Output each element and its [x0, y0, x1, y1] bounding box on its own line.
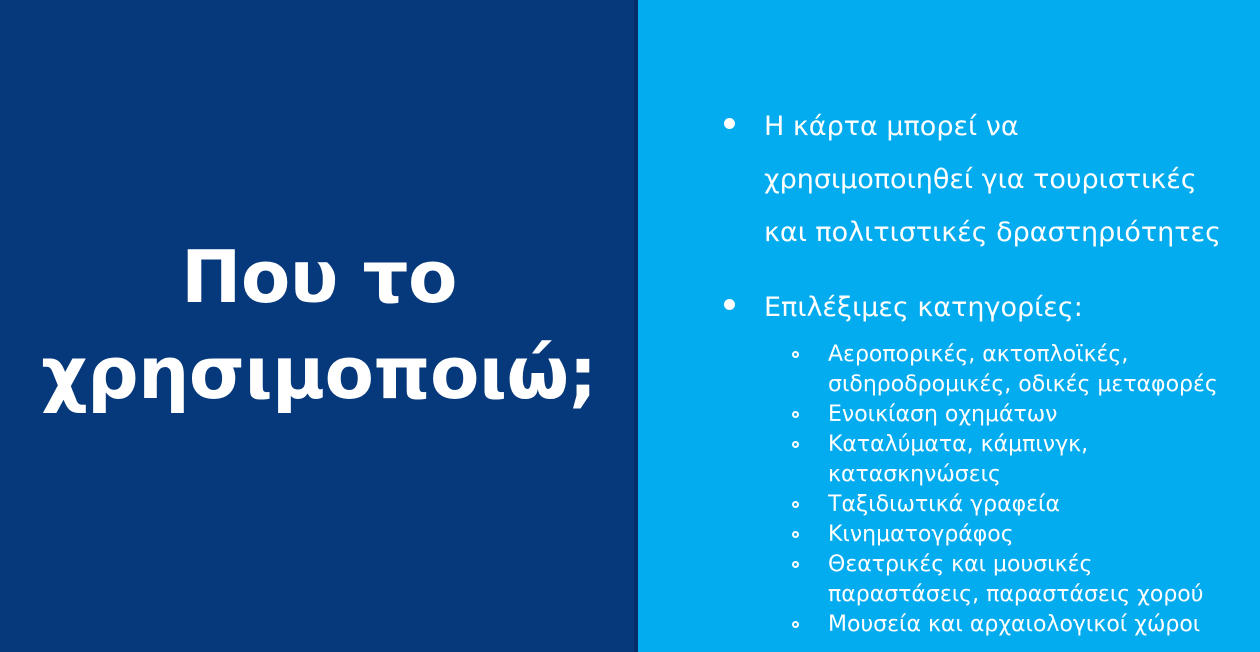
hollow-circle-bullet-icon: [792, 411, 799, 418]
sub-list-item: Καταλύματα, κάμπινγκ, κατασκηνώσεις: [792, 430, 1222, 490]
sub-list-item: Μουσεία και αρχαιολογικοί χώροι: [792, 610, 1222, 640]
hollow-circle-bullet-icon: [792, 441, 799, 448]
slide-title-panel: Που το χρησιμοποιώ;: [0, 0, 638, 652]
bullet-text: Επιλέξιμες κατηγορίες:: [764, 281, 1222, 334]
sub-bullet-text: Ενοικίαση οχημάτων: [828, 400, 1222, 430]
list-item: Η κάρτα μπορεί να χρησιμοποιηθεί για του…: [720, 100, 1222, 259]
sub-list-item: Αεροπορικές, ακτοπλοϊκές, σιδηροδρομικές…: [792, 340, 1222, 400]
hollow-circle-bullet-icon: [792, 621, 799, 628]
sub-bullet-text: Αεροπορικές, ακτοπλοϊκές, σιδηροδρομικές…: [828, 340, 1222, 400]
bullet-text: Η κάρτα μπορεί να χρησιμοποιηθεί για του…: [764, 100, 1222, 259]
sub-list-item: Θεατρικές και μουσικές παραστάσεις, παρα…: [792, 550, 1222, 610]
sub-bullet-text: Κινηματογράφος: [828, 520, 1222, 550]
slide-title: Που το χρησιμοποιώ;: [22, 230, 616, 422]
filled-disc-bullet-icon: [724, 299, 735, 310]
sub-list-item: Κινηματογράφος: [792, 520, 1222, 550]
filled-disc-bullet-icon: [724, 118, 735, 129]
hollow-circle-bullet-icon: [792, 531, 799, 538]
presentation-slide: Που το χρησιμοποιώ; Η κάρτα μπορεί να χρ…: [0, 0, 1260, 652]
sub-bullet-text: Μουσεία και αρχαιολογικοί χώροι: [828, 610, 1222, 640]
hollow-circle-bullet-icon: [792, 351, 799, 358]
sub-list-item: Ενοικίαση οχημάτων: [792, 400, 1222, 430]
hollow-circle-bullet-icon: [792, 561, 799, 568]
bullet-list: Η κάρτα μπορεί να χρησιμοποιηθεί για του…: [720, 100, 1222, 640]
sub-bullet-list: Αεροπορικές, ακτοπλοϊκές, σιδηροδρομικές…: [764, 340, 1222, 640]
hollow-circle-bullet-icon: [792, 501, 799, 508]
sub-list-item: Ταξιδιωτικά γραφεία: [792, 490, 1222, 520]
sub-bullet-text: Καταλύματα, κάμπινγκ, κατασκηνώσεις: [828, 430, 1222, 490]
list-item: Επιλέξιμες κατηγορίες: Αεροπορικές, ακτο…: [720, 281, 1222, 640]
sub-bullet-text: Ταξιδιωτικά γραφεία: [828, 490, 1222, 520]
sub-bullet-text: Θεατρικές και μουσικές παραστάσεις, παρα…: [828, 550, 1222, 610]
slide-content-panel: Η κάρτα μπορεί να χρησιμοποιηθεί για του…: [638, 0, 1260, 652]
